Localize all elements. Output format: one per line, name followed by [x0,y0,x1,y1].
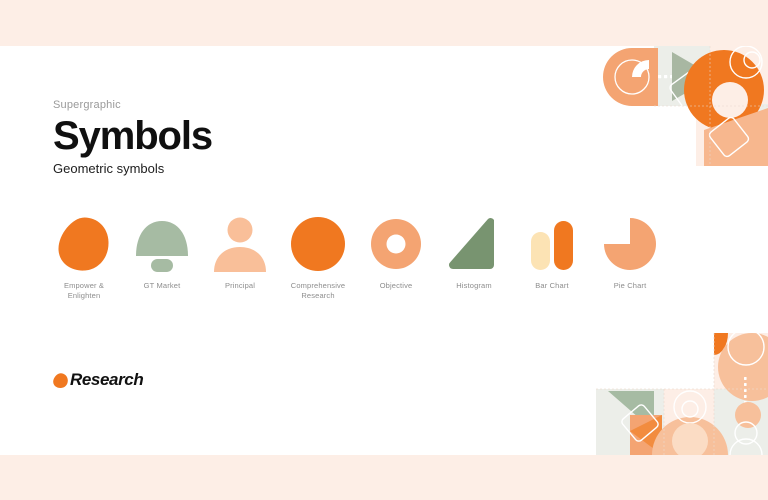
top-color-band [0,0,768,46]
symbols-row: Empower & Enlighten GT Market Principal [45,213,669,301]
pie-icon [599,213,661,275]
symbol-item-bar-chart[interactable]: Bar Chart [513,213,591,301]
triangle-icon [443,213,505,275]
donut-icon [365,213,427,275]
symbol-label: Bar Chart [535,281,568,291]
symbol-label: Principal [225,281,255,291]
eyebrow-text: Supergraphic [53,98,212,112]
symbol-label: Empower & Enlighten [47,281,121,301]
blob-icon [52,372,69,389]
symbol-label: Comprehensive Research [281,281,355,301]
headline-block: Supergraphic Symbols Geometric symbols [53,98,212,177]
symbol-item-empower-enlighten[interactable]: Empower & Enlighten [45,213,123,301]
page-title: Symbols [53,116,212,156]
symbol-label: GT Market [144,281,181,291]
bars-icon [521,213,583,275]
symbol-item-principal[interactable]: Principal [201,213,279,301]
supergraphic-bottom-right [596,333,768,455]
blob-icon [53,213,115,275]
brand-name: Research [70,370,143,390]
symbol-item-gt-market[interactable]: GT Market [123,213,201,301]
mushroom-icon [131,213,193,275]
bottom-color-band [0,455,768,500]
page-subtitle: Geometric symbols [53,161,212,177]
supergraphic-top-right [596,46,768,166]
symbol-item-comprehensive-research[interactable]: Comprehensive Research [279,213,357,301]
person-icon [209,213,271,275]
circle-icon [287,213,349,275]
symbol-item-pie-chart[interactable]: Pie Chart [591,213,669,301]
symbol-label: Histogram [456,281,492,291]
symbol-item-objective[interactable]: Objective [357,213,435,301]
symbol-item-histogram[interactable]: Histogram [435,213,513,301]
symbol-label: Objective [380,281,413,291]
brand-logo[interactable]: Research [52,370,143,390]
slide-canvas: Supergraphic Symbols Geometric symbols E… [0,0,768,500]
symbol-label: Pie Chart [614,281,647,291]
